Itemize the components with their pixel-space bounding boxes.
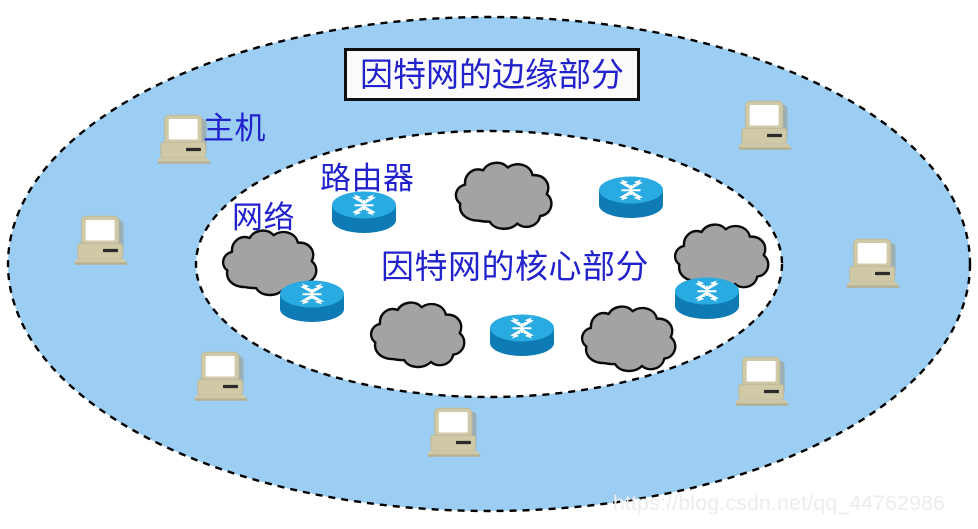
network-label: 网络 — [232, 192, 295, 237]
diagram-canvas: 因特网的边缘部分 主机 路由器 网络 因特网的核心部分 https://blog… — [0, 0, 978, 529]
core-part-label: 因特网的核心部分 — [381, 240, 649, 288]
edge-part-title-box: 因特网的边缘部分 — [344, 48, 640, 101]
router-upper-right — [599, 177, 663, 219]
host-bottom — [426, 408, 480, 457]
router-mid-right — [675, 278, 739, 320]
watermark-text: https://blog.csdn.net/qq_44762986 — [613, 492, 945, 516]
edge-part-title-label: 因特网的边缘部分 — [360, 58, 624, 91]
router-label: 路由器 — [320, 153, 415, 198]
host-label: 主机 — [203, 103, 266, 148]
host-right-upper — [845, 239, 899, 288]
host-right-lower — [734, 357, 788, 406]
router-mid-left — [280, 281, 344, 323]
host-top-right — [737, 101, 791, 150]
router-bottom-mid — [490, 315, 554, 357]
host-left-lower — [193, 352, 247, 401]
host-left-upper — [73, 216, 127, 265]
